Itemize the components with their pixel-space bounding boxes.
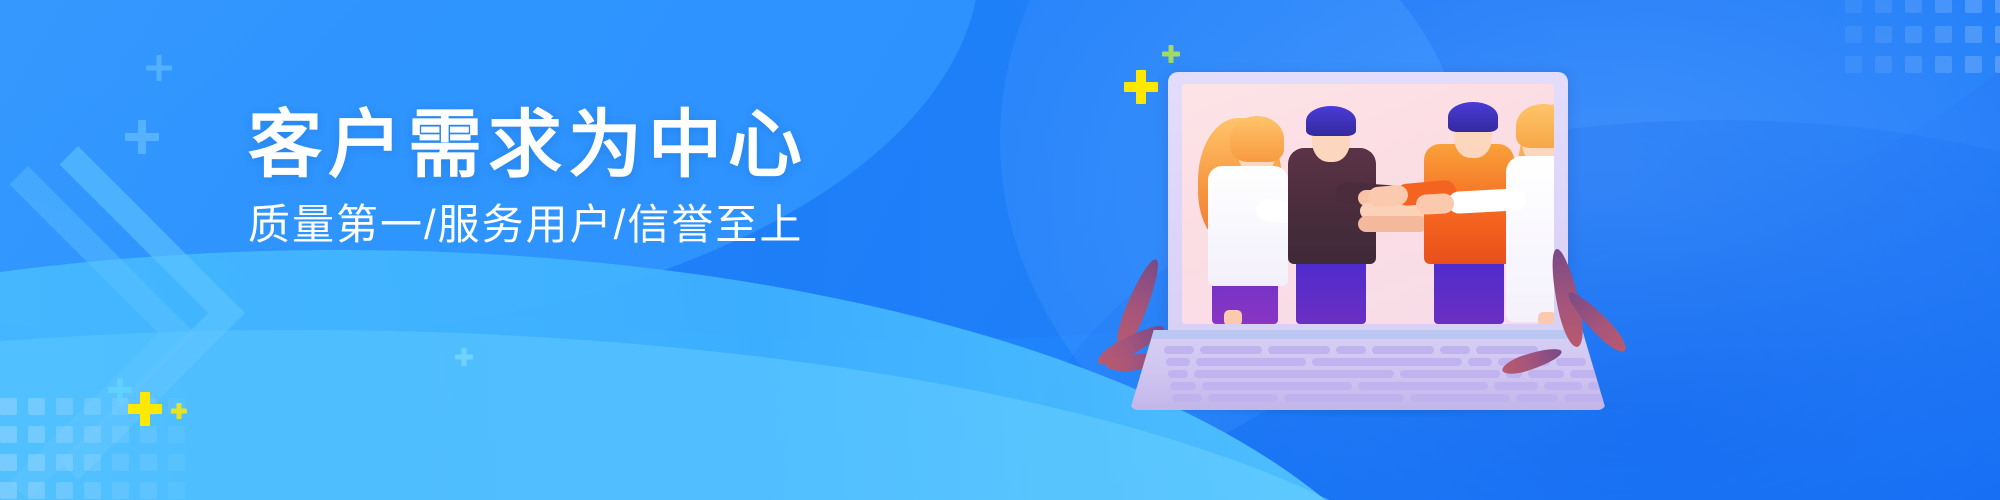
keyboard-key (1516, 394, 1558, 402)
keyboard-key (1336, 346, 1366, 354)
keyboard-key (1570, 370, 1620, 378)
keyboard-key (1312, 358, 1462, 366)
keyboard-key (1556, 358, 1586, 366)
hair (1448, 102, 1498, 132)
keyboard-key (1168, 370, 1188, 378)
keyboard-key (1284, 394, 1404, 402)
keyboard-key (1200, 346, 1262, 354)
plus-mid-cyan-icon (455, 348, 473, 366)
hair-front (1230, 116, 1284, 162)
person-woman-right (1494, 86, 1554, 324)
page-subtitle: 质量第一/服务用户/信誉至上 (248, 204, 868, 246)
hair-front (1516, 104, 1554, 148)
plus-laptop-green-sm-icon (1162, 45, 1180, 63)
keyboard-key (1544, 382, 1582, 390)
keyboard-key (1172, 394, 1202, 402)
arm-sleeve (1447, 188, 1526, 214)
marketing-banner: 客户需求为中心 质量第一/服务用户/信誉至上 (0, 0, 2000, 500)
plus-left-medium-icon (125, 120, 159, 154)
foot (1224, 310, 1242, 324)
keyboard-key (1468, 358, 1492, 366)
keyboard-key (1166, 358, 1190, 366)
laptop-hinge (1130, 330, 1606, 339)
keyboard-key (1170, 382, 1196, 390)
laptop-lid (1168, 72, 1568, 334)
torso-jacket (1208, 166, 1288, 286)
keyboard-key (1208, 394, 1278, 402)
keyboard-key (1194, 370, 1394, 378)
headline-block: 客户需求为中心 质量第一/服务用户/信誉至上 (248, 108, 868, 246)
keyboard-key (1410, 394, 1510, 402)
keyboard-key (1440, 346, 1470, 354)
keyboard-key (1268, 346, 1330, 354)
laptop-screen (1182, 84, 1554, 324)
plus-laptop-yellow-icon (1124, 70, 1158, 104)
keyboard-key (1202, 382, 1352, 390)
keyboard-key (1358, 382, 1488, 390)
foot (1538, 312, 1554, 324)
keyboard-key (1564, 394, 1604, 402)
keyboard-key (1372, 346, 1434, 354)
dot-grid-bottom-left (0, 398, 196, 500)
plus-top-left-small-icon (146, 55, 172, 81)
plus-bottom-yellow-icon (128, 392, 162, 426)
hair (1306, 106, 1356, 136)
plus-bottom-yellow-sm-icon (171, 403, 187, 419)
keyboard-key (1588, 382, 1608, 390)
keyboard-key (1494, 382, 1538, 390)
laptop-keyboard-base (1130, 330, 1606, 410)
keyboard-key (1196, 358, 1306, 366)
forearm-skin (1416, 193, 1455, 215)
keyboard-key (1528, 370, 1564, 378)
dot-grid-top-right (1845, 0, 2000, 86)
page-title: 客户需求为中心 (248, 108, 868, 182)
keyboard-key (1400, 370, 1500, 378)
torso-dress (1506, 156, 1554, 322)
keyboard-key (1164, 346, 1194, 354)
